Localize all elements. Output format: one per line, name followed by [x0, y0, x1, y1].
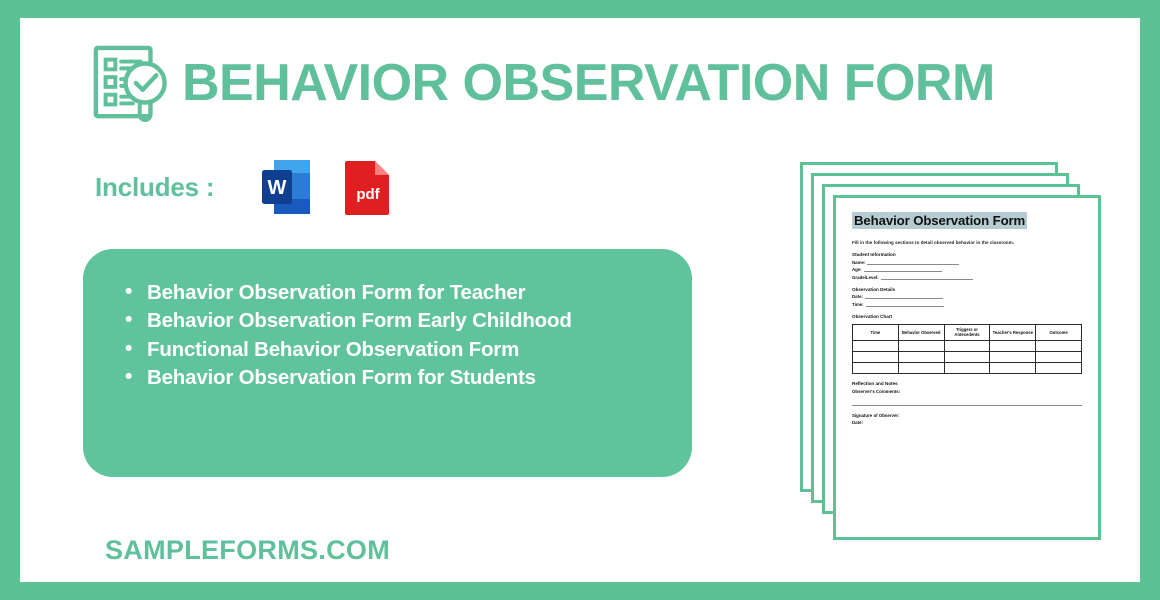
field-rule	[864, 268, 942, 272]
checklist-magnifier-icon	[90, 42, 168, 124]
section-heading-reflection-and-notes: Reflection and Notes	[852, 381, 1082, 386]
field-grade-level: Grade/Level:	[852, 275, 1082, 280]
list-item[interactable]: Behavior Observation Form for Teacher	[125, 279, 692, 306]
field-date: Date:	[852, 294, 1082, 299]
table-header-row: Time Behavior Observed Triggers or Antec…	[853, 324, 1082, 340]
svg-text:W: W	[268, 177, 287, 199]
field-label: Date:	[852, 420, 863, 425]
field-age: Age:	[852, 267, 1082, 272]
list-item[interactable]: Functional Behavior Observation Form	[125, 336, 692, 363]
document-page: Behavior Observation Form Fill in the fo…	[836, 198, 1098, 425]
file-format-icons: W pdf	[260, 158, 394, 216]
table-row	[853, 340, 1082, 351]
table-column-header: Behavior Observed	[898, 324, 944, 340]
table-row	[853, 362, 1082, 373]
field-name: Name:	[852, 260, 1082, 265]
poster-root: BEHAVIOR OBSERVATION FORM Includes : W p…	[0, 0, 1160, 600]
field-rule	[881, 276, 973, 280]
word-file-icon: W	[260, 158, 312, 216]
includes-label: Includes :	[95, 172, 214, 203]
pdf-file-icon: pdf	[342, 158, 394, 216]
document-sheet-front[interactable]: Behavior Observation Form Fill in the fo…	[833, 195, 1101, 540]
section-heading-observation-chart: Observation Chart	[852, 314, 1082, 319]
section-heading-student-information: Student Information	[852, 252, 1082, 257]
field-signature-of-observer: Signature of Observer:	[852, 413, 1082, 418]
field-label: Grade/Level:	[852, 275, 879, 280]
field-label: Observer's Comments:	[852, 389, 900, 394]
field-label: Date:	[852, 294, 863, 299]
table-column-header: Triggers or Antecedents	[944, 324, 990, 340]
document-preview-stack: Behavior Observation Form Fill in the fo…	[778, 146, 1108, 526]
list-item[interactable]: Behavior Observation Form for Students	[125, 364, 692, 391]
page-title: BEHAVIOR OBSERVATION FORM	[182, 57, 995, 109]
forms-list: Behavior Observation Form for Teacher Be…	[83, 249, 692, 391]
comments-rule	[852, 405, 1082, 406]
section-heading-observation-details: Observation Details	[852, 287, 1082, 292]
table-row	[853, 351, 1082, 362]
header: BEHAVIOR OBSERVATION FORM	[90, 42, 995, 124]
field-rule	[866, 303, 944, 307]
field-label: Age:	[852, 267, 862, 272]
list-item[interactable]: Behavior Observation Form Early Childhoo…	[125, 307, 692, 334]
poster-canvas: BEHAVIOR OBSERVATION FORM Includes : W p…	[20, 18, 1140, 582]
table-column-header: Teacher's Response	[990, 324, 1036, 340]
field-time: Time:	[852, 302, 1082, 307]
document-title: Behavior Observation Form	[852, 212, 1027, 229]
field-rule	[867, 261, 959, 265]
field-observer-comments: Observer's Comments:	[852, 389, 1082, 394]
observation-chart-table: Time Behavior Observed Triggers or Antec…	[852, 324, 1082, 374]
svg-text:pdf: pdf	[357, 186, 381, 203]
includes-row: Includes : W pdf	[95, 158, 394, 216]
table-column-header: Time	[853, 324, 899, 340]
field-label: Name:	[852, 260, 865, 265]
field-label: Time:	[852, 302, 864, 307]
document-intro: Fill in the following sections to detail…	[852, 240, 1082, 245]
field-label: Signature of Observer:	[852, 413, 900, 418]
table-column-header: Outcome	[1036, 324, 1082, 340]
brand-footer: SAMPLEFORMS.COM	[105, 535, 390, 566]
forms-list-card: Behavior Observation Form for Teacher Be…	[83, 249, 692, 477]
field-signature-date: Date:	[852, 420, 1082, 425]
field-rule	[865, 295, 943, 299]
